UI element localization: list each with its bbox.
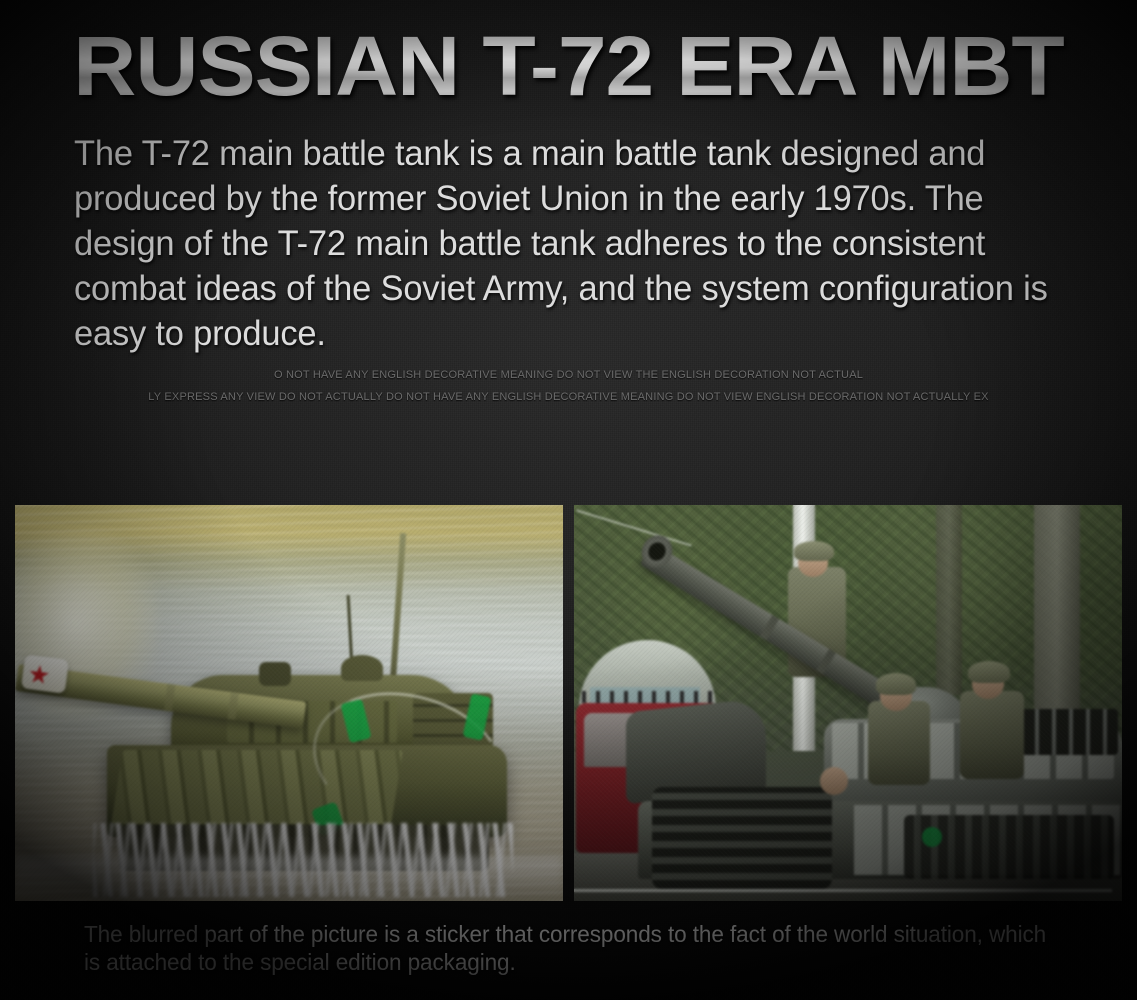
decorative-text-line-2: LY EXPRESS ANY VIEW DO NOT ACTUALLY DO N… — [0, 391, 1137, 403]
barrel-band — [816, 649, 836, 675]
photo-t72-fording-river — [15, 505, 563, 901]
soldier-helmet — [794, 541, 834, 561]
page-title: RUSSIAN T-72 ERA MBT — [0, 24, 1137, 108]
soldier-head — [820, 767, 848, 795]
commander-cupola — [341, 655, 383, 681]
barrel-band — [164, 684, 175, 712]
soldier-helmet — [968, 661, 1010, 683]
product-banner: RUSSIAN T-72 ERA MBT The T-72 main battl… — [0, 0, 1137, 1000]
gunner-sight — [259, 662, 291, 686]
tank-tracks — [904, 815, 1114, 879]
soldier-cap — [876, 673, 916, 695]
soldier-seated — [868, 701, 930, 785]
soldier-seated — [960, 691, 1024, 779]
water-wake — [15, 857, 563, 901]
street-scene — [574, 505, 1122, 901]
decorative-text-line-1: O NOT HAVE ANY ENGLISH DECORATIVE MEANIN… — [0, 369, 1137, 381]
photo-gallery — [0, 505, 1137, 901]
barrel-band — [760, 615, 780, 641]
car-roof-rack — [582, 691, 712, 703]
photo-t72-street-with-soldiers — [574, 505, 1122, 901]
tank-tracks — [652, 787, 832, 889]
product-description: The T-72 main battle tank is a main batt… — [74, 131, 1074, 356]
barrel-band — [227, 692, 238, 720]
photo-caption: The blurred part of the picture is a sti… — [84, 920, 1057, 976]
photo-bottom-highlight — [574, 889, 1112, 892]
smoke-grenade-launchers — [1022, 709, 1118, 755]
tree-trunk — [936, 505, 962, 695]
green-marking — [922, 827, 942, 847]
river-scene — [15, 505, 563, 901]
